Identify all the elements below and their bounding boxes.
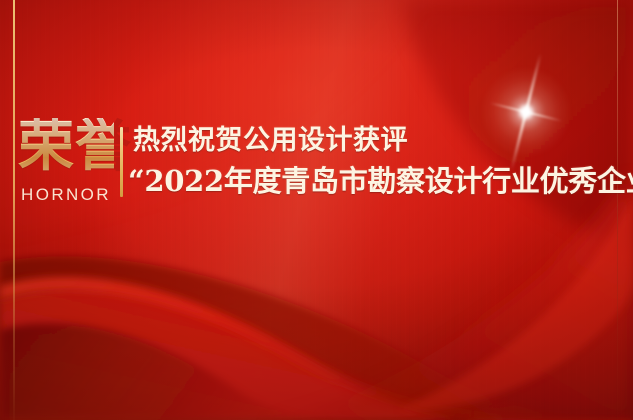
gold-vertical-divider bbox=[120, 127, 123, 197]
headline-block: 热烈祝贺公用设计获评 “2022年度青岛市勘察设计行业优秀企业”等荣誉 bbox=[133, 124, 633, 199]
headline-line-1: 热烈祝贺公用设计获评 bbox=[133, 124, 633, 158]
honor-badge-english-subtitle: HORNOR bbox=[18, 185, 114, 205]
banner-content: 荣誉 HORNOR 热烈祝贺公用设计获评 “2022年度青岛市勘察设计行业优秀企… bbox=[0, 0, 633, 420]
honor-badge-chinese-title: 荣誉 bbox=[18, 118, 114, 175]
honor-banner: 荣誉 HORNOR 热烈祝贺公用设计获评 “2022年度青岛市勘察设计行业优秀企… bbox=[0, 0, 633, 420]
headline-line-2: “2022年度青岛市勘察设计行业优秀企业”等荣誉 bbox=[128, 163, 633, 199]
honor-badge: 荣誉 HORNOR bbox=[18, 118, 114, 205]
